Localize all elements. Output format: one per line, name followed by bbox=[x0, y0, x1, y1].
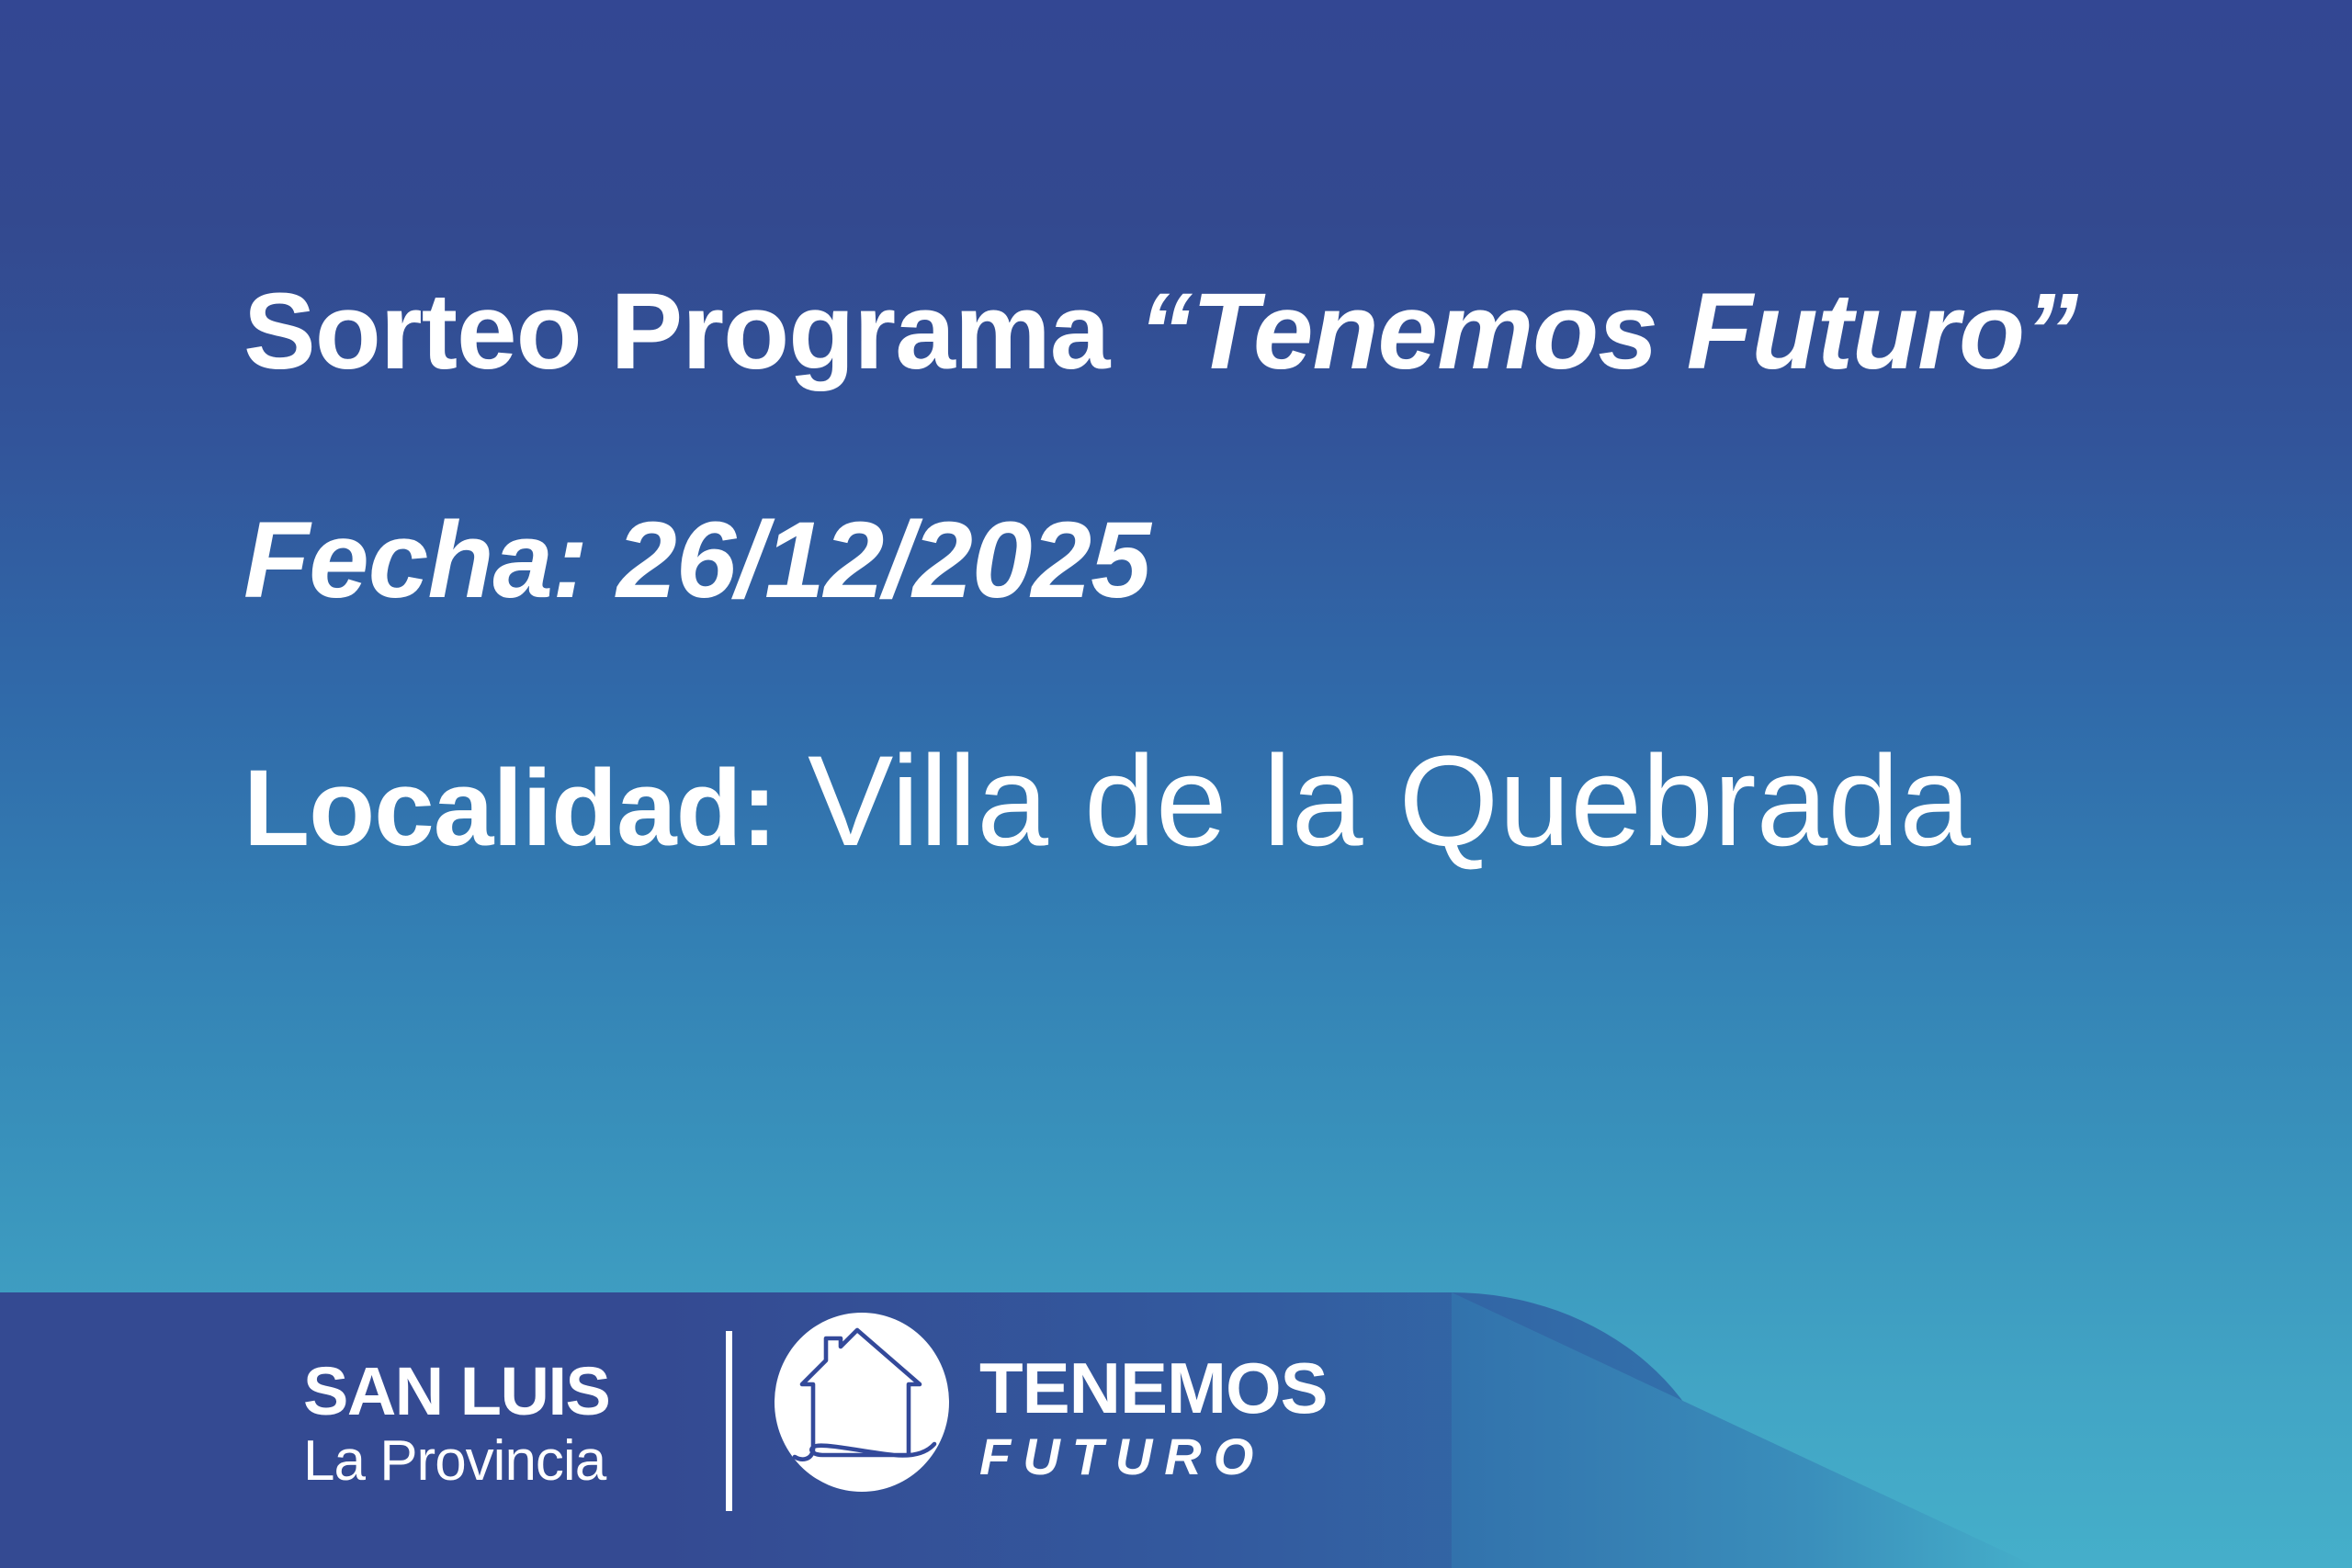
locality-value: Villa de la Quebrada bbox=[808, 728, 1971, 873]
san-luis-logo-main: SAN LUIS bbox=[303, 1359, 609, 1426]
tenemos-futuro-logo: TENEMOS FUTURO bbox=[979, 1353, 1328, 1484]
date-line: Fecha: 26/12/2025 bbox=[243, 504, 2265, 617]
house-in-circle-icon bbox=[775, 1313, 949, 1492]
locality-line: Localidad:Villa de la Quebrada bbox=[243, 734, 2265, 868]
main-content: Sorteo Programa “Tenemos Futuro” Fecha: … bbox=[243, 276, 2265, 868]
san-luis-logo: SAN LUIS La Provincia bbox=[303, 1359, 609, 1491]
poster-canvas: Sorteo Programa “Tenemos Futuro” Fecha: … bbox=[0, 0, 2352, 1568]
page-title: Sorteo Programa “Tenemos Futuro” bbox=[243, 276, 2265, 389]
title-plain-part: Sorteo Programa bbox=[243, 271, 1138, 392]
logo-divider bbox=[726, 1331, 732, 1511]
footer-content: SAN LUIS La Provincia TENEMOS FUTURO bbox=[0, 1292, 1727, 1568]
locality-label: Localidad: bbox=[243, 748, 776, 869]
tenemos-futuro-logo-main: TENEMOS bbox=[979, 1353, 1328, 1423]
san-luis-logo-sub: La Provincia bbox=[303, 1431, 609, 1491]
tenemos-futuro-logo-sub: FUTURO bbox=[979, 1430, 1328, 1484]
title-program-name: “Tenemos Futuro” bbox=[1138, 271, 2077, 392]
